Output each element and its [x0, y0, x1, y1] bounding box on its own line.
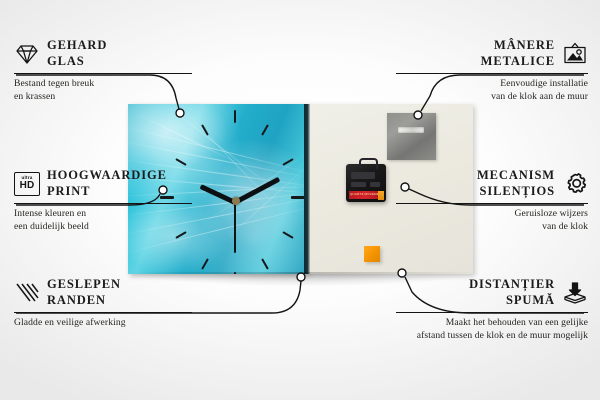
feature-title-line2: SILENȚIOS	[477, 184, 555, 200]
feature-description: Bestand tegen breuk en krassen	[14, 77, 204, 103]
metal-hanger-plate	[387, 113, 436, 160]
feature-description: Intense kleuren en een duidelijk beeld	[14, 207, 204, 233]
feature-title-line1: GESLEPEN	[47, 277, 121, 293]
feature-geslepen-randen: GESLEPEN RANDEN Gladde en veilige afwerk…	[14, 277, 204, 329]
feature-divider	[396, 203, 588, 204]
clock-center-cap	[232, 197, 240, 205]
clock-tick	[291, 196, 305, 199]
feature-desc-line2: en krassen	[14, 90, 204, 103]
clock-tick	[175, 158, 186, 166]
feature-description: Maakt het behouden van een gelijke afsta…	[396, 316, 588, 342]
feature-manere-metalice: MÂNERE METALICE Eenvoudige installatie v…	[396, 38, 588, 103]
beveled-edges-icon	[14, 281, 40, 305]
foam-spacer-icon	[562, 281, 588, 305]
feature-desc-line1: Bestand tegen breuk	[14, 77, 204, 90]
feature-title-line2: PRINT	[47, 184, 167, 200]
feature-title: DISTANȚIER SPUMĂ	[469, 277, 555, 309]
feature-desc-line2: afstand tussen de klok en de muur mogeli…	[396, 329, 588, 342]
feature-title-line1: GEHARD	[47, 38, 107, 54]
feature-title-line2: METALICE	[481, 54, 555, 70]
clock-tick	[282, 231, 293, 239]
feature-distantier-spuma: DISTANȚIER SPUMĂ Maakt het behouden van …	[396, 277, 588, 342]
feature-title-line1: MÂNERE	[481, 38, 555, 54]
clock-second-hand	[234, 201, 236, 253]
clock-tick	[234, 110, 236, 123]
feature-title: GEHARD GLAS	[47, 38, 107, 70]
feature-divider	[14, 312, 192, 313]
hanger-slot	[398, 127, 424, 133]
feature-description: Geruisloze wijzers van de klok	[396, 207, 588, 233]
clock-tick	[282, 158, 293, 166]
feature-desc-line1: Geruisloze wijzers	[396, 207, 588, 220]
movement-hook	[359, 158, 378, 169]
feature-title: HOOGWAARDIGE PRINT	[47, 168, 167, 200]
feature-title: MÂNERE METALICE	[481, 38, 555, 70]
feature-hoogwaardige-print: ultra HD HOOGWAARDIGE PRINT Intense kleu…	[14, 168, 204, 233]
feature-desc-line1: Eenvoudige installatie	[396, 77, 588, 90]
clock-hour-hand	[200, 184, 237, 205]
foam-spacer-sample	[364, 246, 380, 262]
movement-chip	[378, 191, 384, 200]
wall-picture-hanger-icon	[562, 42, 588, 66]
diamond-icon	[14, 42, 40, 66]
feature-description: Gladde en veilige afwerking	[14, 316, 204, 329]
infographic-canvas: QUARTZ MOVEMENT	[0, 0, 600, 400]
feature-divider	[396, 73, 588, 74]
feature-divider	[14, 203, 192, 204]
feature-title: MECANISM SILENȚIOS	[477, 168, 555, 200]
feature-desc-line2: van de klok	[396, 220, 588, 233]
feature-description: Eenvoudige installatie van de klok aan d…	[396, 77, 588, 103]
feature-title: GESLEPEN RANDEN	[47, 277, 121, 309]
clock-tick	[261, 124, 269, 135]
feature-desc-line2: van de klok aan de muur	[396, 90, 588, 103]
feature-gehard-glas: GEHARD GLAS Bestand tegen breuk en krass…	[14, 38, 204, 103]
feature-desc-line1: Gladde en veilige afwerking	[14, 316, 204, 329]
feature-title-line1: DISTANȚIER	[469, 277, 555, 293]
ultra-hd-icon-large-text: HD	[20, 181, 35, 191]
ultra-hd-icon: ultra HD	[14, 172, 40, 196]
feature-divider	[14, 73, 192, 74]
feature-title-line1: HOOGWAARDIGE	[47, 168, 167, 184]
feature-divider	[396, 312, 588, 313]
feature-title-line2: RANDEN	[47, 293, 121, 309]
feature-desc-line1: Maakt het behouden van een gelijke	[396, 316, 588, 329]
feature-mecanism-silentios: MECANISM SILENȚIOS Geruisloze wijzers va…	[396, 168, 588, 233]
quartz-movement: QUARTZ MOVEMENT	[346, 164, 386, 202]
feature-title-line2: GLAS	[47, 54, 107, 70]
feature-title-line2: SPUMĂ	[469, 293, 555, 309]
clock-minute-hand	[234, 177, 280, 205]
feature-desc-line1: Intense kleuren en	[14, 207, 204, 220]
gear-icon	[562, 172, 588, 196]
clock-tick	[261, 258, 269, 269]
clock-tick	[201, 124, 209, 135]
feature-desc-line2: een duidelijk beeld	[14, 220, 204, 233]
clock-tick	[201, 258, 209, 269]
feature-title-line1: MECANISM	[477, 168, 555, 184]
